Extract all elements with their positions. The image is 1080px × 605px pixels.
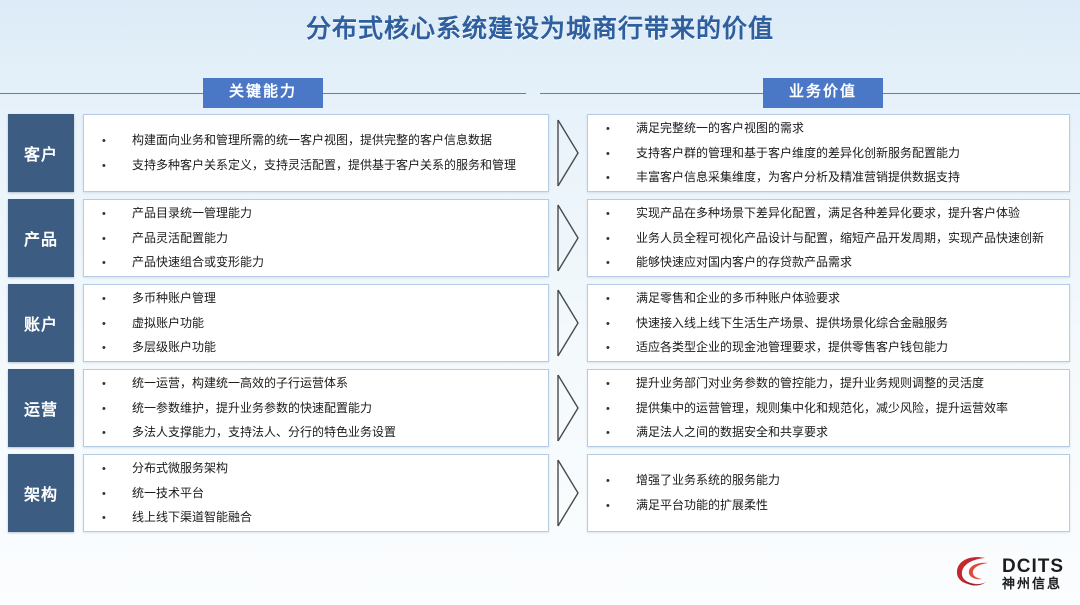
bullet-text: 产品目录统一管理能力: [132, 205, 538, 221]
content-rows: 客户•构建面向业务和管理所需的统一客户视图，提供完整的客户信息数据•支持多种客户…: [0, 114, 1080, 539]
category-label-1: 产品: [8, 199, 74, 277]
header-rule-right: [883, 93, 1080, 94]
value-panel: •增强了业务系统的服务能力•满足平台功能的扩展柔性: [587, 454, 1070, 532]
category-label-4: 架构: [8, 454, 74, 532]
bullet-dot-icon: •: [598, 256, 636, 271]
banner-key-capabilities: 关键能力: [203, 78, 323, 108]
bullet-text: 产品灵活配置能力: [132, 230, 538, 246]
content-row: 产品•产品目录统一管理能力•产品灵活配置能力•产品快速组合或变形能力•实现产品在…: [0, 199, 1080, 277]
bullet-dot-icon: •: [598, 171, 636, 186]
bullet-text: 快速接入线上线下生活生产场景、提供场景化综合金融服务: [636, 315, 1059, 331]
bullet-item: •统一技术平台: [94, 481, 538, 506]
bullet-dot-icon: •: [598, 377, 636, 392]
bullet-item: •构建面向业务和管理所需的统一客户视图，提供完整的客户信息数据: [94, 128, 538, 153]
bullet-dot-icon: •: [94, 402, 132, 417]
header-rule-left: [0, 93, 203, 94]
bullet-text: 丰富客户信息采集维度，为客户分析及精准营销提供数据支持: [636, 169, 1059, 185]
bullet-dot-icon: •: [94, 134, 132, 149]
bullet-item: •业务人员全程可视化产品设计与配置，缩短产品开发周期，实现产品快速创新: [598, 226, 1059, 251]
bullet-dot-icon: •: [94, 426, 132, 441]
bullet-text: 满足平台功能的扩展柔性: [636, 497, 1059, 513]
bullet-text: 满足完整统一的客户视图的需求: [636, 120, 1059, 136]
bullet-item: •满足完整统一的客户视图的需求: [598, 116, 1059, 141]
chevron-right-icon: [549, 199, 587, 277]
chevron-right-icon: [549, 454, 587, 532]
bullet-dot-icon: •: [598, 474, 636, 489]
bullet-dot-icon: •: [94, 511, 132, 526]
bullet-item: •虚拟账户功能: [94, 311, 538, 336]
bullet-item: •分布式微服务架构: [94, 456, 538, 481]
bullet-item: •多层级账户功能: [94, 335, 538, 360]
chevron-right-icon: [549, 284, 587, 362]
bullet-dot-icon: •: [598, 341, 636, 356]
bullet-item: •满足法人之间的数据安全和共享要求: [598, 420, 1059, 445]
bullet-text: 支持多种客户关系定义，支持灵活配置，提供基于客户关系的服务和管理: [132, 157, 538, 173]
bullet-item: •提升业务部门对业务参数的管控能力，提升业务规则调整的灵活度: [598, 371, 1059, 396]
bullet-dot-icon: •: [94, 292, 132, 307]
content-row: 架构•分布式微服务架构•统一技术平台•线上线下渠道智能融合•增强了业务系统的服务…: [0, 454, 1080, 532]
bullet-dot-icon: •: [94, 256, 132, 271]
bullet-text: 统一技术平台: [132, 485, 538, 501]
bullet-item: •满足平台功能的扩展柔性: [598, 493, 1059, 518]
bullet-dot-icon: •: [598, 317, 636, 332]
bullet-dot-icon: •: [598, 426, 636, 441]
header-rule-tick-left: [540, 93, 566, 94]
bullet-dot-icon: •: [598, 402, 636, 417]
bullet-text: 能够快速应对国内客户的存贷款产品需求: [636, 254, 1059, 270]
bullet-item: •统一参数维护，提升业务参数的快速配置能力: [94, 396, 538, 421]
capability-panel: •多币种账户管理•虚拟账户功能•多层级账户功能: [83, 284, 549, 362]
capability-panel: •统一运营，构建统一高效的子行运营体系•统一参数维护，提升业务参数的快速配置能力…: [83, 369, 549, 447]
bullet-item: •多法人支撑能力，支持法人、分行的特色业务设置: [94, 420, 538, 445]
bullet-dot-icon: •: [598, 292, 636, 307]
category-label-2: 账户: [8, 284, 74, 362]
bullet-item: •产品快速组合或变形能力: [94, 250, 538, 275]
content-row: 客户•构建面向业务和管理所需的统一客户视图，提供完整的客户信息数据•支持多种客户…: [0, 114, 1080, 192]
bullet-item: •产品目录统一管理能力: [94, 201, 538, 226]
header-rule-mid-left: [323, 93, 526, 94]
bullet-text: 满足零售和企业的多币种账户体验要求: [636, 290, 1059, 306]
bullet-item: •适应各类型企业的现金池管理要求，提供零售客户钱包能力: [598, 335, 1059, 360]
bullet-text: 增强了业务系统的服务能力: [636, 472, 1059, 488]
bullet-text: 多层级账户功能: [132, 339, 538, 355]
bullet-dot-icon: •: [598, 147, 636, 162]
chevron-right-icon: [549, 369, 587, 447]
bullet-item: •提供集中的运营管理，规则集中化和规范化，减少风险，提升运营效率: [598, 396, 1059, 421]
logo-name-cn: 神州信息: [1002, 577, 1064, 591]
page-title: 分布式核心系统建设为城商行带来的价值: [0, 0, 1080, 44]
value-panel: •实现产品在多种场景下差异化配置，满足各种差异化要求，提升客户体验•业务人员全程…: [587, 199, 1070, 277]
bullet-dot-icon: •: [94, 317, 132, 332]
bullet-text: 虚拟账户功能: [132, 315, 538, 331]
bullet-item: •线上线下渠道智能融合: [94, 505, 538, 530]
dcits-swirl-icon: [955, 554, 995, 593]
content-row: 账户•多币种账户管理•虚拟账户功能•多层级账户功能•满足零售和企业的多币种账户体…: [0, 284, 1080, 362]
category-label-0: 客户: [8, 114, 74, 192]
bullet-item: •丰富客户信息采集维度，为客户分析及精准营销提供数据支持: [598, 165, 1059, 190]
banner-business-value: 业务价值: [763, 78, 883, 108]
company-logo: DCITS 神州信息: [955, 554, 1064, 593]
bullet-text: 支持客户群的管理和基于客户维度的差异化创新服务配置能力: [636, 145, 1059, 161]
bullet-text: 满足法人之间的数据安全和共享要求: [636, 424, 1059, 440]
bullet-text: 多币种账户管理: [132, 290, 538, 306]
bullet-text: 业务人员全程可视化产品设计与配置，缩短产品开发周期，实现产品快速创新: [636, 230, 1059, 246]
bullet-text: 实现产品在多种场景下差异化配置，满足各种差异化要求，提升客户体验: [636, 205, 1059, 221]
bullet-dot-icon: •: [94, 462, 132, 477]
bullet-dot-icon: •: [94, 159, 132, 174]
chevron-right-icon: [549, 114, 587, 192]
value-panel: •满足完整统一的客户视图的需求•支持客户群的管理和基于客户维度的差异化创新服务配…: [587, 114, 1070, 192]
bullet-text: 分布式微服务架构: [132, 460, 538, 476]
logo-name-en: DCITS: [1002, 557, 1064, 577]
bullet-dot-icon: •: [598, 122, 636, 137]
value-panel: •满足零售和企业的多币种账户体验要求•快速接入线上线下生活生产场景、提供场景化综…: [587, 284, 1070, 362]
column-headers: 关键能力 业务价值: [0, 72, 1080, 114]
bullet-item: •实现产品在多种场景下差异化配置，满足各种差异化要求，提升客户体验: [598, 201, 1059, 226]
header-rule-mid-right: [566, 93, 763, 94]
capability-panel: •分布式微服务架构•统一技术平台•线上线下渠道智能融合: [83, 454, 549, 532]
bullet-item: •支持多种客户关系定义，支持灵活配置，提供基于客户关系的服务和管理: [94, 153, 538, 178]
bullet-dot-icon: •: [94, 232, 132, 247]
content-row: 运营•统一运营，构建统一高效的子行运营体系•统一参数维护，提升业务参数的快速配置…: [0, 369, 1080, 447]
bullet-item: •快速接入线上线下生活生产场景、提供场景化综合金融服务: [598, 311, 1059, 336]
bullet-text: 线上线下渠道智能融合: [132, 509, 538, 525]
category-label-3: 运营: [8, 369, 74, 447]
bullet-text: 产品快速组合或变形能力: [132, 254, 538, 270]
bullet-dot-icon: •: [94, 341, 132, 356]
bullet-dot-icon: •: [94, 377, 132, 392]
bullet-item: •支持客户群的管理和基于客户维度的差异化创新服务配置能力: [598, 141, 1059, 166]
bullet-item: •产品灵活配置能力: [94, 226, 538, 251]
bullet-text: 统一运营，构建统一高效的子行运营体系: [132, 375, 538, 391]
bullet-item: •多币种账户管理: [94, 286, 538, 311]
bullet-text: 构建面向业务和管理所需的统一客户视图，提供完整的客户信息数据: [132, 132, 538, 148]
bullet-dot-icon: •: [94, 207, 132, 222]
capability-panel: •产品目录统一管理能力•产品灵活配置能力•产品快速组合或变形能力: [83, 199, 549, 277]
bullet-text: 多法人支撑能力，支持法人、分行的特色业务设置: [132, 424, 538, 440]
bullet-item: •能够快速应对国内客户的存贷款产品需求: [598, 250, 1059, 275]
bullet-dot-icon: •: [94, 487, 132, 502]
bullet-item: •增强了业务系统的服务能力: [598, 468, 1059, 493]
bullet-text: 统一参数维护，提升业务参数的快速配置能力: [132, 400, 538, 416]
bullet-dot-icon: •: [598, 232, 636, 247]
right-column-header: 业务价值: [566, 72, 1080, 114]
value-panel: •提升业务部门对业务参数的管控能力，提升业务规则调整的灵活度•提供集中的运营管理…: [587, 369, 1070, 447]
left-column-header: 关键能力: [0, 72, 566, 114]
bullet-text: 提升业务部门对业务参数的管控能力，提升业务规则调整的灵活度: [636, 375, 1059, 391]
bullet-dot-icon: •: [598, 207, 636, 222]
bullet-item: •统一运营，构建统一高效的子行运营体系: [94, 371, 538, 396]
capability-panel: •构建面向业务和管理所需的统一客户视图，提供完整的客户信息数据•支持多种客户关系…: [83, 114, 549, 192]
bullet-text: 提供集中的运营管理，规则集中化和规范化，减少风险，提升运营效率: [636, 400, 1059, 416]
bullet-item: •满足零售和企业的多币种账户体验要求: [598, 286, 1059, 311]
bullet-text: 适应各类型企业的现金池管理要求，提供零售客户钱包能力: [636, 339, 1059, 355]
bullet-dot-icon: •: [598, 499, 636, 514]
